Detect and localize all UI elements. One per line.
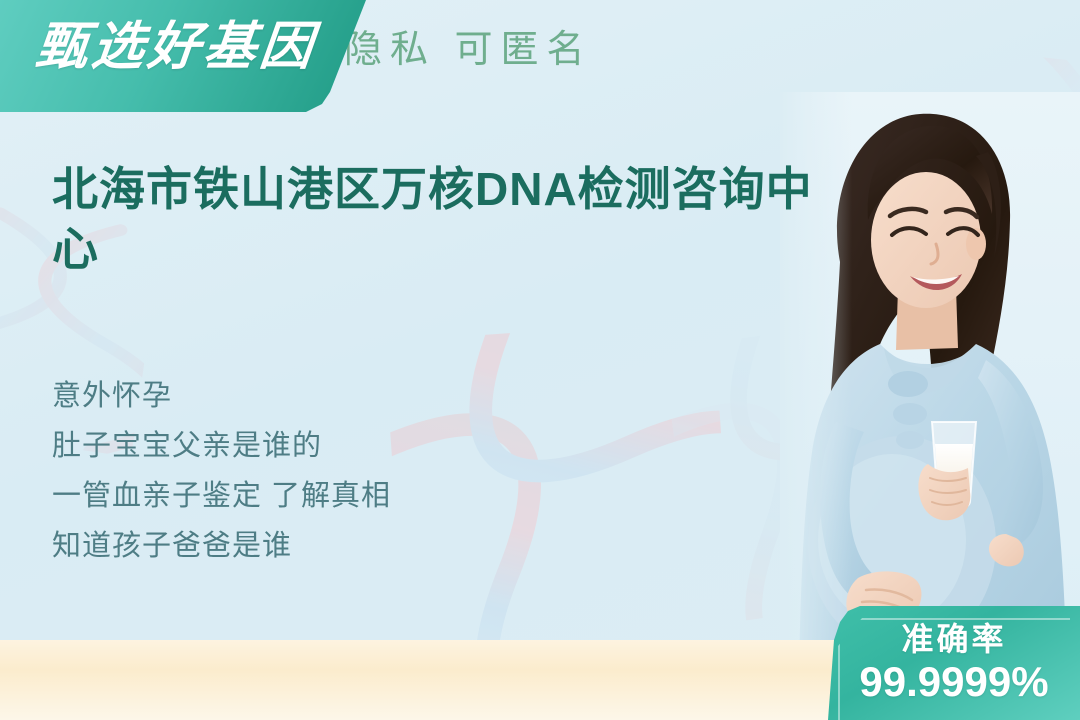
promo-poster: 甄选好基因 北海市铁山港区万核DNA检测咨询中心 意外怀孕 肚子宝宝父亲是谁的 … (0, 0, 1080, 720)
copy-line-3: 一管血亲子鉴定 了解真相 (52, 472, 391, 522)
brand-logo-text: 甄选好基因 (33, 20, 319, 75)
marketing-copy-block: 意外怀孕 肚子宝宝父亲是谁的 一管血亲子鉴定 了解真相 知道孩子爸爸是谁 (52, 372, 391, 572)
accuracy-badge-value: 99.9999% (828, 658, 1080, 706)
dna-helix-icon-center (384, 319, 736, 671)
page-title: 北海市铁山港区万核DNA检测咨询中心 (52, 160, 832, 280)
copy-line-1: 意外怀孕 (52, 372, 391, 422)
accuracy-badge-label: 准确率 (828, 614, 1080, 660)
copy-line-2: 肚子宝宝父亲是谁的 (52, 422, 391, 472)
copy-line-4: 知道孩子爸爸是谁 (52, 522, 391, 572)
